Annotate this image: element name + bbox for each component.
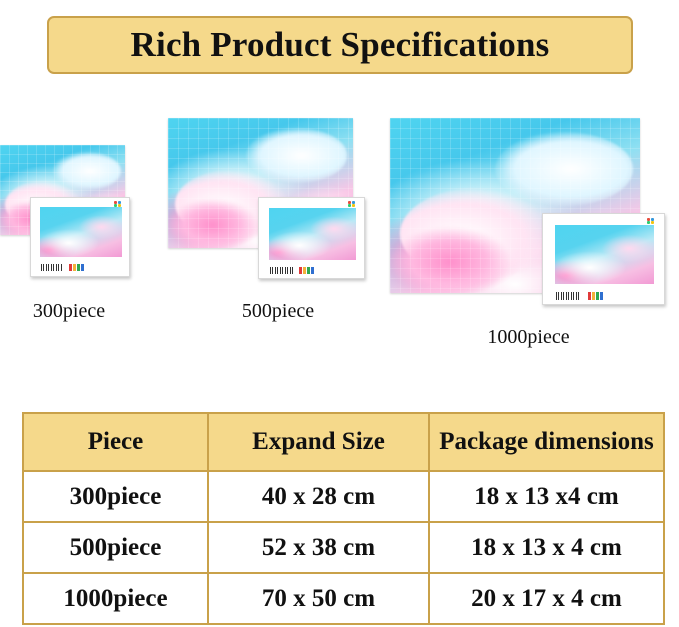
product-500: 500piece bbox=[168, 118, 388, 348]
cell-expand-300: 40 x 28 cm bbox=[208, 471, 429, 522]
product-showcase: 300piece 500piece bbox=[0, 90, 679, 380]
header-package-dimensions: Package dimensions bbox=[429, 413, 664, 471]
puzzle-piece-icon bbox=[348, 201, 358, 207]
puzzle-box-300 bbox=[30, 197, 130, 277]
table-row: 1000piece 70 x 50 cm 20 x 17 x 4 cm bbox=[23, 573, 664, 624]
product-label-1000: 1000piece bbox=[390, 326, 667, 349]
cell-package-500: 18 x 13 x 4 cm bbox=[429, 522, 664, 573]
puzzle-piece-icon bbox=[647, 218, 657, 224]
box-art-image bbox=[555, 225, 654, 284]
barcode-icon bbox=[41, 264, 63, 271]
box-artwork-300 bbox=[40, 207, 122, 257]
box-artwork-1000 bbox=[555, 225, 654, 284]
brand-logo-icon bbox=[69, 264, 85, 271]
specifications-table: Piece Expand Size Package dimensions 300… bbox=[22, 412, 665, 625]
product-label-300: 300piece bbox=[0, 300, 138, 323]
page-title: Rich Product Specifications bbox=[131, 25, 550, 65]
barcode-icon bbox=[270, 267, 293, 274]
cell-piece-300: 300piece bbox=[23, 471, 208, 522]
box-art-image bbox=[269, 208, 356, 260]
page-title-banner: Rich Product Specifications bbox=[47, 16, 633, 74]
header-expand-size: Expand Size bbox=[208, 413, 429, 471]
cell-package-1000: 20 x 17 x 4 cm bbox=[429, 573, 664, 624]
product-300: 300piece bbox=[0, 145, 160, 345]
cell-package-300: 18 x 13 x4 cm bbox=[429, 471, 664, 522]
cell-expand-500: 52 x 38 cm bbox=[208, 522, 429, 573]
cell-piece-500: 500piece bbox=[23, 522, 208, 573]
brand-logo-icon bbox=[588, 292, 605, 300]
header-piece: Piece bbox=[23, 413, 208, 471]
table-header-row: Piece Expand Size Package dimensions bbox=[23, 413, 664, 471]
puzzle-box-1000 bbox=[542, 213, 665, 305]
brand-logo-icon bbox=[299, 267, 315, 274]
box-artwork-500 bbox=[269, 208, 356, 260]
puzzle-piece-icon bbox=[114, 201, 124, 207]
cell-expand-1000: 70 x 50 cm bbox=[208, 573, 429, 624]
product-1000: 1000piece bbox=[390, 90, 679, 360]
barcode-icon bbox=[556, 292, 581, 300]
product-label-500: 500piece bbox=[168, 300, 388, 323]
puzzle-box-500 bbox=[258, 197, 365, 279]
box-art-image bbox=[40, 207, 122, 257]
table-row: 500piece 52 x 38 cm 18 x 13 x 4 cm bbox=[23, 522, 664, 573]
table-row: 300piece 40 x 28 cm 18 x 13 x4 cm bbox=[23, 471, 664, 522]
cell-piece-1000: 1000piece bbox=[23, 573, 208, 624]
